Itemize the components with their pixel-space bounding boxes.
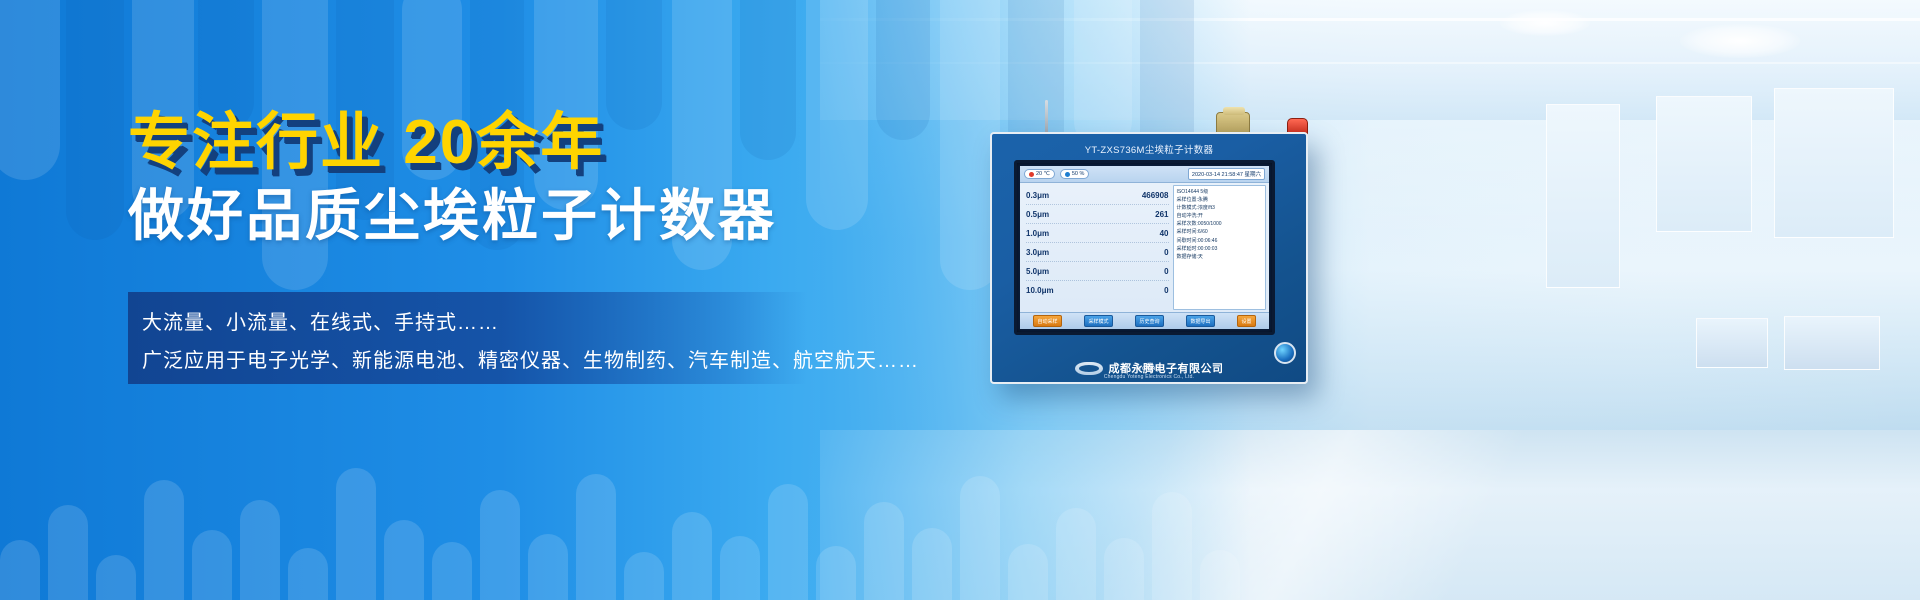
hero-copy: 专注行业 20余年 做好品质尘埃粒子计数器 <box>128 110 888 248</box>
particle-count: 0 <box>1164 248 1168 257</box>
bar-deco <box>1074 0 1132 150</box>
eq-bar <box>720 536 760 600</box>
particle-table: 0.3μm 466908 0.5μm 261 1.0μm 40 3.0μm 0 <box>1020 183 1173 312</box>
device-lcd-screen[interactable]: 20 ℃ 50 % 2020-03-14 21:58:47 星期六 0.3μm … <box>1014 160 1275 335</box>
bar-deco <box>66 0 124 240</box>
particle-count: 261 <box>1155 210 1168 219</box>
droplet-icon <box>1065 172 1070 177</box>
eq-bar <box>192 530 232 600</box>
particle-count: 40 <box>1160 229 1169 238</box>
particle-size: 3.0μm <box>1026 248 1049 257</box>
history-query-button[interactable]: 历史查询 <box>1135 315 1163 327</box>
banner-root: 专注行业 20余年 做好品质尘埃粒子计数器 大流量、小流量、在线式、手持式…… … <box>0 0 1920 600</box>
particle-size: 10.0μm <box>1026 286 1054 295</box>
sample-mode-button[interactable]: 采样模式 <box>1084 315 1112 327</box>
setting-item: 采样次数:0050/1000 <box>1177 220 1262 228</box>
auto-sample-button[interactable]: 自动采样 <box>1033 315 1061 327</box>
wall-vent-2 <box>1696 318 1768 368</box>
setting-item: 采样位置:永腾 <box>1177 196 1262 204</box>
eq-bar <box>336 468 376 600</box>
lcd-inner: 20 ℃ 50 % 2020-03-14 21:58:47 星期六 0.3μm … <box>1020 166 1269 329</box>
humidity-value: 50 % <box>1072 171 1085 177</box>
setting-item: 间歇时间:00:06:46 <box>1177 237 1262 245</box>
setting-item: 采样时间:6/60 <box>1177 228 1262 236</box>
wall-window-2 <box>1656 96 1752 232</box>
device-brass-fitting <box>1216 112 1250 134</box>
hero-description-line-1: 大流量、小流量、在线式、手持式…… <box>142 306 499 335</box>
lcd-body: 0.3μm 466908 0.5μm 261 1.0μm 40 3.0μm 0 <box>1020 183 1269 312</box>
eq-bar <box>672 512 712 600</box>
eq-bar <box>48 505 88 600</box>
timestamp: 2020-03-14 21:58:47 星期六 <box>1188 168 1265 180</box>
table-row: 10.0μm 0 <box>1026 281 1169 300</box>
eq-bar <box>1152 492 1192 600</box>
eq-bar <box>912 528 952 600</box>
eq-bar <box>1056 508 1096 600</box>
table-row: 0.3μm 466908 <box>1026 186 1169 205</box>
eq-bar <box>96 555 136 600</box>
eq-bar <box>576 474 616 600</box>
bar-deco <box>0 0 60 180</box>
temperature-value: 20 ℃ <box>1036 171 1050 177</box>
table-row: 1.0μm 40 <box>1026 224 1169 243</box>
settings-button[interactable]: 设置 <box>1237 315 1255 327</box>
eq-bar <box>864 502 904 600</box>
lcd-status-bar: 20 ℃ 50 % 2020-03-14 21:58:47 星期六 <box>1020 166 1269 183</box>
eq-bar <box>480 490 520 600</box>
temperature-readout: 20 ℃ <box>1024 169 1055 179</box>
table-row: 3.0μm 0 <box>1026 243 1169 262</box>
wall-window-1 <box>1774 88 1894 238</box>
eq-bar <box>528 534 568 600</box>
setting-item: 自动冲洗:开 <box>1177 212 1262 220</box>
lcd-button-bar: 自动采样 采样模式 历史查询 数据导出 设置 <box>1020 312 1269 329</box>
setting-item: 采样延时:00:00:03 <box>1177 245 1262 253</box>
particle-size: 1.0μm <box>1026 229 1049 238</box>
eq-bar <box>240 500 280 600</box>
device-antenna <box>1045 100 1048 136</box>
setting-item: 数据存储:天 <box>1177 253 1262 261</box>
power-indicator-icon[interactable] <box>1274 342 1296 364</box>
particle-size: 0.3μm <box>1026 191 1049 200</box>
wall-vent <box>1784 316 1880 370</box>
eq-bar <box>384 520 424 600</box>
setting-item: 计数模式:浓度/ft3 <box>1177 204 1262 212</box>
table-row: 0.5μm 261 <box>1026 205 1169 224</box>
eq-bar <box>144 480 184 600</box>
data-export-button[interactable]: 数据导出 <box>1186 315 1214 327</box>
yoteng-logo-icon <box>1075 362 1103 375</box>
table-row: 5.0μm 0 <box>1026 262 1169 281</box>
eq-bar <box>960 476 1000 600</box>
device-model-label: YT-ZXS736M尘埃粒子计数器 <box>992 142 1306 156</box>
eq-bar <box>0 540 40 600</box>
eq-bar <box>288 548 328 600</box>
eq-bar <box>624 552 664 600</box>
particle-count: 0 <box>1164 267 1168 276</box>
eq-bar <box>1104 538 1144 600</box>
particle-count: 0 <box>1164 286 1168 295</box>
hero-headline-primary: 专注行业 20余年 <box>128 110 888 175</box>
setting-item: ISO14644 5级 <box>1177 188 1262 196</box>
settings-panel: ISO14644 5级 采样位置:永腾 计数模式:浓度/ft3 自动冲洗:开 采… <box>1173 185 1266 310</box>
hero-description-line-2: 广泛应用于电子光学、新能源电池、精密仪器、生物制药、汽车制造、航空航天…… <box>142 344 919 373</box>
particle-count: 466908 <box>1142 191 1169 200</box>
device-brand-en: Chengdu Yoteng Electronics Co., Ltd. <box>992 374 1306 380</box>
eq-bar <box>1008 544 1048 600</box>
hero-headline-secondary: 做好品质尘埃粒子计数器 <box>128 185 888 248</box>
thermometer-icon <box>1029 172 1034 177</box>
equalizer-pattern <box>0 440 1250 600</box>
ceiling-lamp-1 <box>1680 24 1800 58</box>
humidity-readout: 50 % <box>1060 169 1090 179</box>
particle-size: 5.0μm <box>1026 267 1049 276</box>
eq-bar <box>1200 550 1240 600</box>
eq-bar <box>816 546 856 600</box>
eq-bar <box>768 484 808 600</box>
device-logo-text: Yoteng <box>1138 366 1159 372</box>
eq-bar <box>432 542 472 600</box>
ceiling-lamp-2 <box>1500 10 1590 36</box>
wall-door <box>1546 104 1620 288</box>
particle-size: 0.5μm <box>1026 210 1049 219</box>
